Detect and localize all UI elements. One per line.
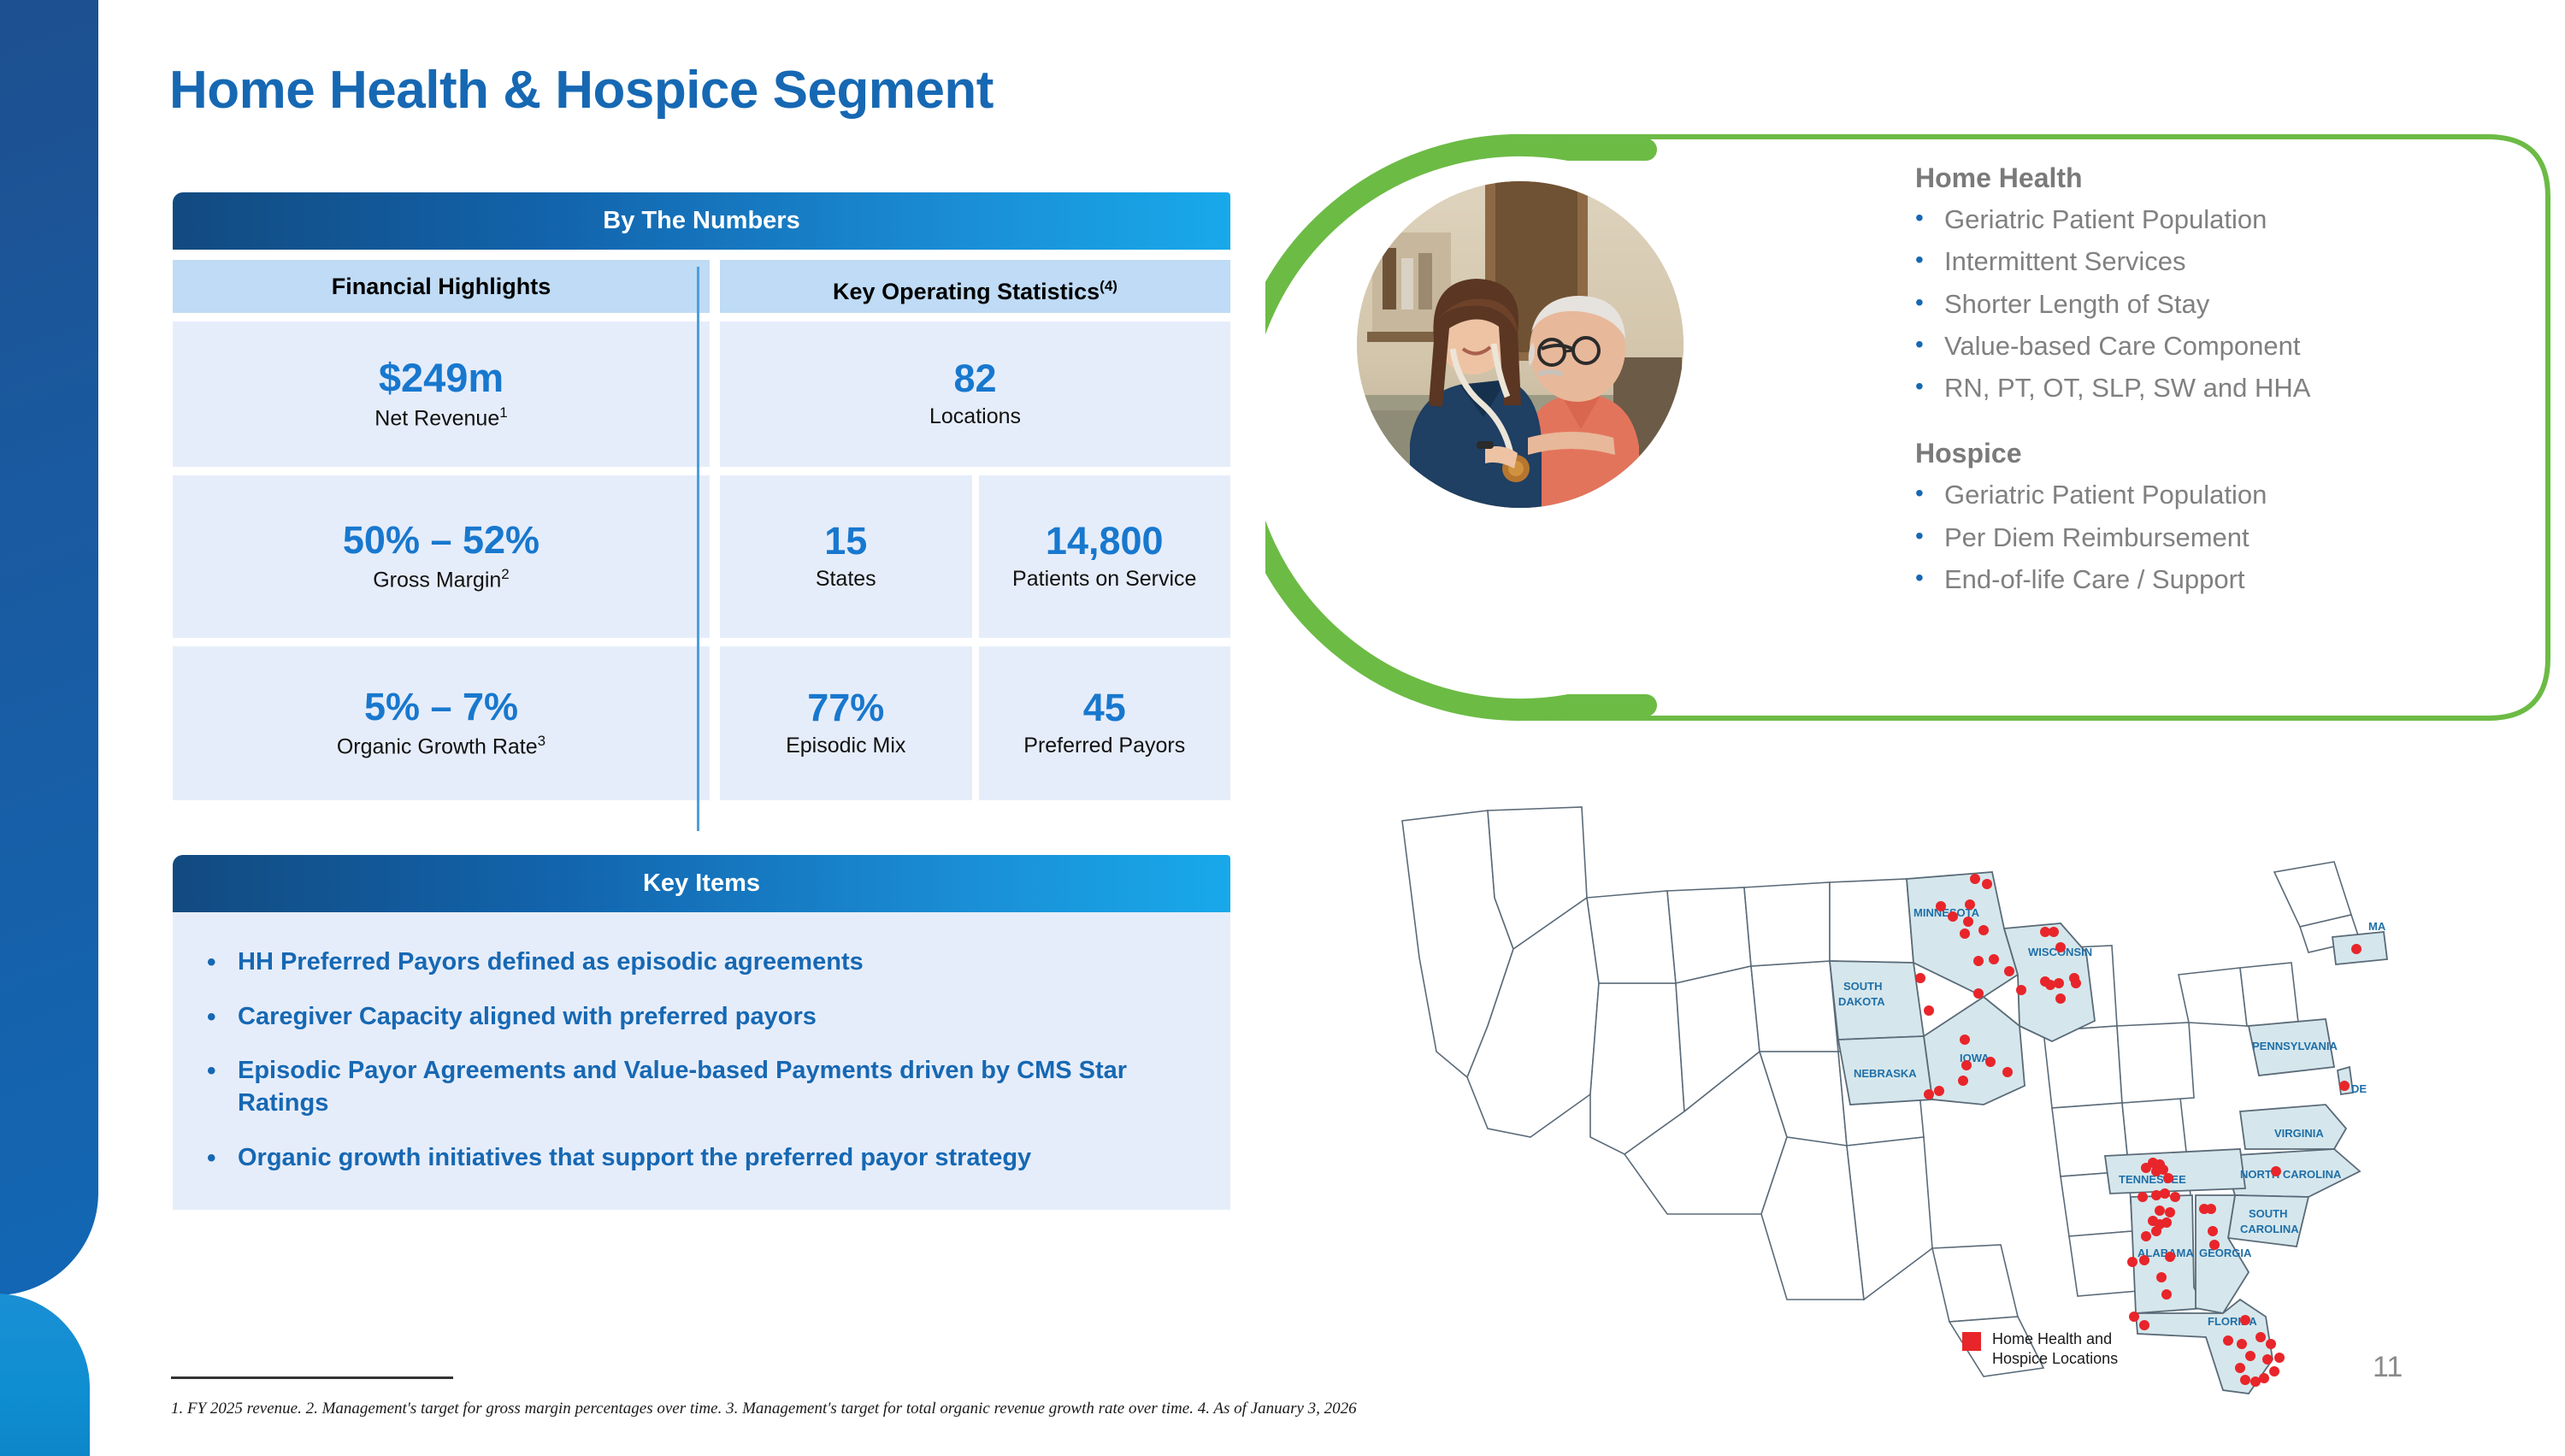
- bullet-icon: •: [1915, 371, 1944, 401]
- numbers-body: $249m Net Revenue1 50% – 52% Gross Margi…: [173, 321, 1230, 800]
- us-locations-map: MINNESOTA WISCONSIN SOUTH DAKOTA IOWA NE…: [1385, 769, 2454, 1402]
- by-the-numbers-panel: By The Numbers Financial Highlights Key …: [173, 192, 1230, 800]
- column-header-label: Financial Highlights: [332, 274, 551, 299]
- home-health-item-text: RN, PT, OT, SLP, SW and HHA: [1944, 371, 2310, 405]
- state-label-south-carolina-line1: SOUTH: [2249, 1207, 2288, 1220]
- home-health-item-text: Value-based Care Component: [1944, 329, 2300, 363]
- bullet-icon: •: [207, 946, 238, 979]
- hospice-block: Hospice • Geriatric Patient Population •…: [1915, 438, 2565, 597]
- stat-label: Patients on Service: [1012, 568, 1196, 592]
- key-item-text: HH Preferred Payors defined as episodic …: [238, 946, 864, 979]
- bullet-icon: •: [1915, 563, 1944, 592]
- stat-value: 15: [824, 522, 867, 560]
- stat-label-wrap: Organic Growth Rate3: [337, 734, 545, 759]
- hospice-item-text: Geriatric Patient Population: [1944, 478, 2267, 512]
- stat-label: Preferred Payors: [1023, 734, 1185, 758]
- stat-organic-growth-rate: 5% – 7% Organic Growth Rate3: [173, 646, 710, 800]
- hospice-item-text: Per Diem Reimbursement: [1944, 521, 2250, 555]
- home-health-item-text: Shorter Length of Stay: [1944, 287, 2209, 321]
- stat-value: 82: [953, 359, 996, 398]
- state-label-pennsylvania: PENNSYLVANIA: [2252, 1040, 2338, 1052]
- state-label-delaware: DE: [2351, 1082, 2367, 1095]
- map-svg: MINNESOTA WISCONSIN SOUTH DAKOTA IOWA NE…: [1385, 769, 2454, 1402]
- stat-label-wrap: Net Revenue1: [374, 405, 507, 431]
- stat-label: States: [816, 568, 876, 592]
- photo-illustration: [1357, 181, 1683, 508]
- rail-bottom-shape: [0, 1294, 90, 1456]
- home-health-item: • Shorter Length of Stay: [1915, 287, 2565, 321]
- bullet-icon: •: [207, 1001, 238, 1034]
- bullet-icon: •: [1915, 329, 1944, 359]
- service-lists: Home Health • Geriatric Patient Populati…: [1915, 162, 2565, 604]
- stat-label: Locations: [929, 405, 1021, 429]
- home-health-item: • Intermittent Services: [1915, 245, 2565, 279]
- bullet-icon: •: [1915, 521, 1944, 551]
- stat-label: Episodic Mix: [786, 734, 905, 758]
- column-header-financial-highlights: Financial Highlights: [173, 260, 710, 313]
- legend-line-2: Hospice Locations: [1992, 1349, 2118, 1369]
- stat-label-superscript: 1: [499, 404, 507, 421]
- key-item-text: Caregiver Capacity aligned with preferre…: [238, 1001, 817, 1034]
- home-health-item: • RN, PT, OT, SLP, SW and HHA: [1915, 371, 2565, 405]
- hospice-item: • End-of-life Care / Support: [1915, 563, 2565, 597]
- stat-label-wrap: Gross Margin2: [373, 567, 510, 592]
- stat-gross-margin: 50% – 52% Gross Margin2: [173, 475, 710, 638]
- stat-label-superscript: 2: [501, 566, 509, 582]
- state-tennessee: [2105, 1149, 2245, 1194]
- key-item: • Organic growth initiatives that suppor…: [207, 1142, 1186, 1175]
- home-health-heading: Home Health: [1915, 162, 2565, 194]
- home-health-item: • Value-based Care Component: [1915, 329, 2565, 363]
- stat-value: 5% – 7%: [364, 687, 518, 726]
- home-health-item-text: Geriatric Patient Population: [1944, 203, 2267, 237]
- state-label-south-dakota-line2: DAKOTA: [1838, 995, 1885, 1008]
- hospice-item-text: End-of-life Care / Support: [1944, 563, 2245, 597]
- page-title: Home Health & Hospice Segment: [169, 60, 994, 121]
- bullet-icon: •: [1915, 245, 1944, 274]
- caregiver-patient-photo: [1357, 181, 1683, 508]
- hospice-item: • Per Diem Reimbursement: [1915, 521, 2565, 555]
- key-item-text: Organic growth initiatives that support …: [238, 1142, 1031, 1175]
- stat-value: 45: [1083, 688, 1126, 727]
- bullet-icon: •: [207, 1055, 238, 1088]
- column-header-label: Key Operating Statistics: [833, 279, 1100, 304]
- home-health-item: • Geriatric Patient Population: [1915, 203, 2565, 237]
- key-item: • Episodic Payor Agreements and Value-ba…: [207, 1055, 1186, 1119]
- stat-patients-on-service: 14,800 Patients on Service: [979, 475, 1231, 638]
- hospice-item: • Geriatric Patient Population: [1915, 478, 2565, 512]
- state-south-carolina: [2228, 1195, 2308, 1247]
- stat-value: $249m: [379, 357, 504, 398]
- stat-label-superscript: 3: [538, 733, 545, 749]
- home-health-item-text: Intermittent Services: [1944, 245, 2186, 279]
- rail-top-shape: [0, 0, 98, 1295]
- state-label-georgia: GEORGIA: [2199, 1247, 2252, 1259]
- stat-label: Gross Margin: [373, 568, 501, 592]
- state-label-south-carolina-line2: CAROLINA: [2240, 1223, 2299, 1235]
- footnote-text: 1. FY 2025 revenue. 2. Management's targ…: [171, 1400, 1881, 1418]
- stat-episodic-mix: 77% Episodic Mix: [720, 646, 972, 800]
- footnote-rule: [171, 1376, 453, 1379]
- key-item: • Caregiver Capacity aligned with prefer…: [207, 1001, 1186, 1034]
- page-number: 11: [2373, 1351, 2403, 1384]
- state-label-nebraska: NEBRASKA: [1854, 1067, 1917, 1080]
- stat-value: 50% – 52%: [343, 521, 540, 559]
- legend-line-1: Home Health and: [1992, 1329, 2118, 1349]
- numbers-column-divider: [697, 267, 699, 831]
- stat-label: Organic Growth Rate: [337, 734, 538, 758]
- stat-label: Net Revenue: [374, 406, 499, 430]
- map-legend: Home Health and Hospice Locations: [1962, 1329, 2118, 1368]
- column-header-key-operating-statistics: Key Operating Statistics(4): [720, 260, 1230, 313]
- state-label-tennessee: TENNESSEE: [2119, 1173, 2186, 1186]
- legend-text: Home Health and Hospice Locations: [1992, 1329, 2118, 1368]
- stat-value: 14,800: [1046, 522, 1164, 560]
- key-item-text: Episodic Payor Agreements and Value-base…: [238, 1055, 1186, 1119]
- state-label-virginia: VIRGINIA: [2274, 1127, 2324, 1140]
- home-health-block: Home Health • Geriatric Patient Populati…: [1915, 162, 2565, 405]
- stat-value: 77%: [807, 688, 884, 727]
- bullet-icon: •: [1915, 203, 1944, 233]
- numbers-column-headers: Financial Highlights Key Operating Stati…: [173, 260, 1230, 313]
- stat-locations: 82 Locations: [720, 321, 1230, 467]
- stat-pair-row-1: 15 States 14,800 Patients on Service: [720, 475, 1230, 638]
- key-items-header: Key Items: [173, 855, 1230, 912]
- legend-swatch-red-square: [1962, 1332, 1981, 1351]
- state-label-south-dakota-line1: SOUTH: [1843, 980, 1883, 993]
- column-header-superscript: (4): [1100, 278, 1117, 294]
- bullet-icon: •: [207, 1142, 238, 1175]
- bullet-icon: •: [1915, 287, 1944, 317]
- financial-highlights-column: $249m Net Revenue1 50% – 52% Gross Margi…: [173, 321, 710, 800]
- stat-net-revenue: $249m Net Revenue1: [173, 321, 710, 467]
- left-decorative-rail: [0, 0, 111, 1442]
- key-operating-statistics-column: 82 Locations 15 States 14,800 Patients o…: [720, 321, 1230, 800]
- stat-states: 15 States: [720, 475, 972, 638]
- stat-preferred-payors: 45 Preferred Payors: [979, 646, 1231, 800]
- stat-pair-row-2: 77% Episodic Mix 45 Preferred Payors: [720, 646, 1230, 800]
- key-items-panel: Key Items • HH Preferred Payors defined …: [173, 855, 1230, 1210]
- key-item: • HH Preferred Payors defined as episodi…: [207, 946, 1186, 979]
- hospice-heading: Hospice: [1915, 438, 2565, 469]
- bullet-icon: •: [1915, 478, 1944, 508]
- state-label-north-carolina: NORTH CAROLINA: [2240, 1168, 2342, 1181]
- state-label-massachusetts: MA: [2368, 920, 2386, 933]
- by-the-numbers-header: By The Numbers: [173, 192, 1230, 250]
- key-items-body: • HH Preferred Payors defined as episodi…: [173, 912, 1230, 1210]
